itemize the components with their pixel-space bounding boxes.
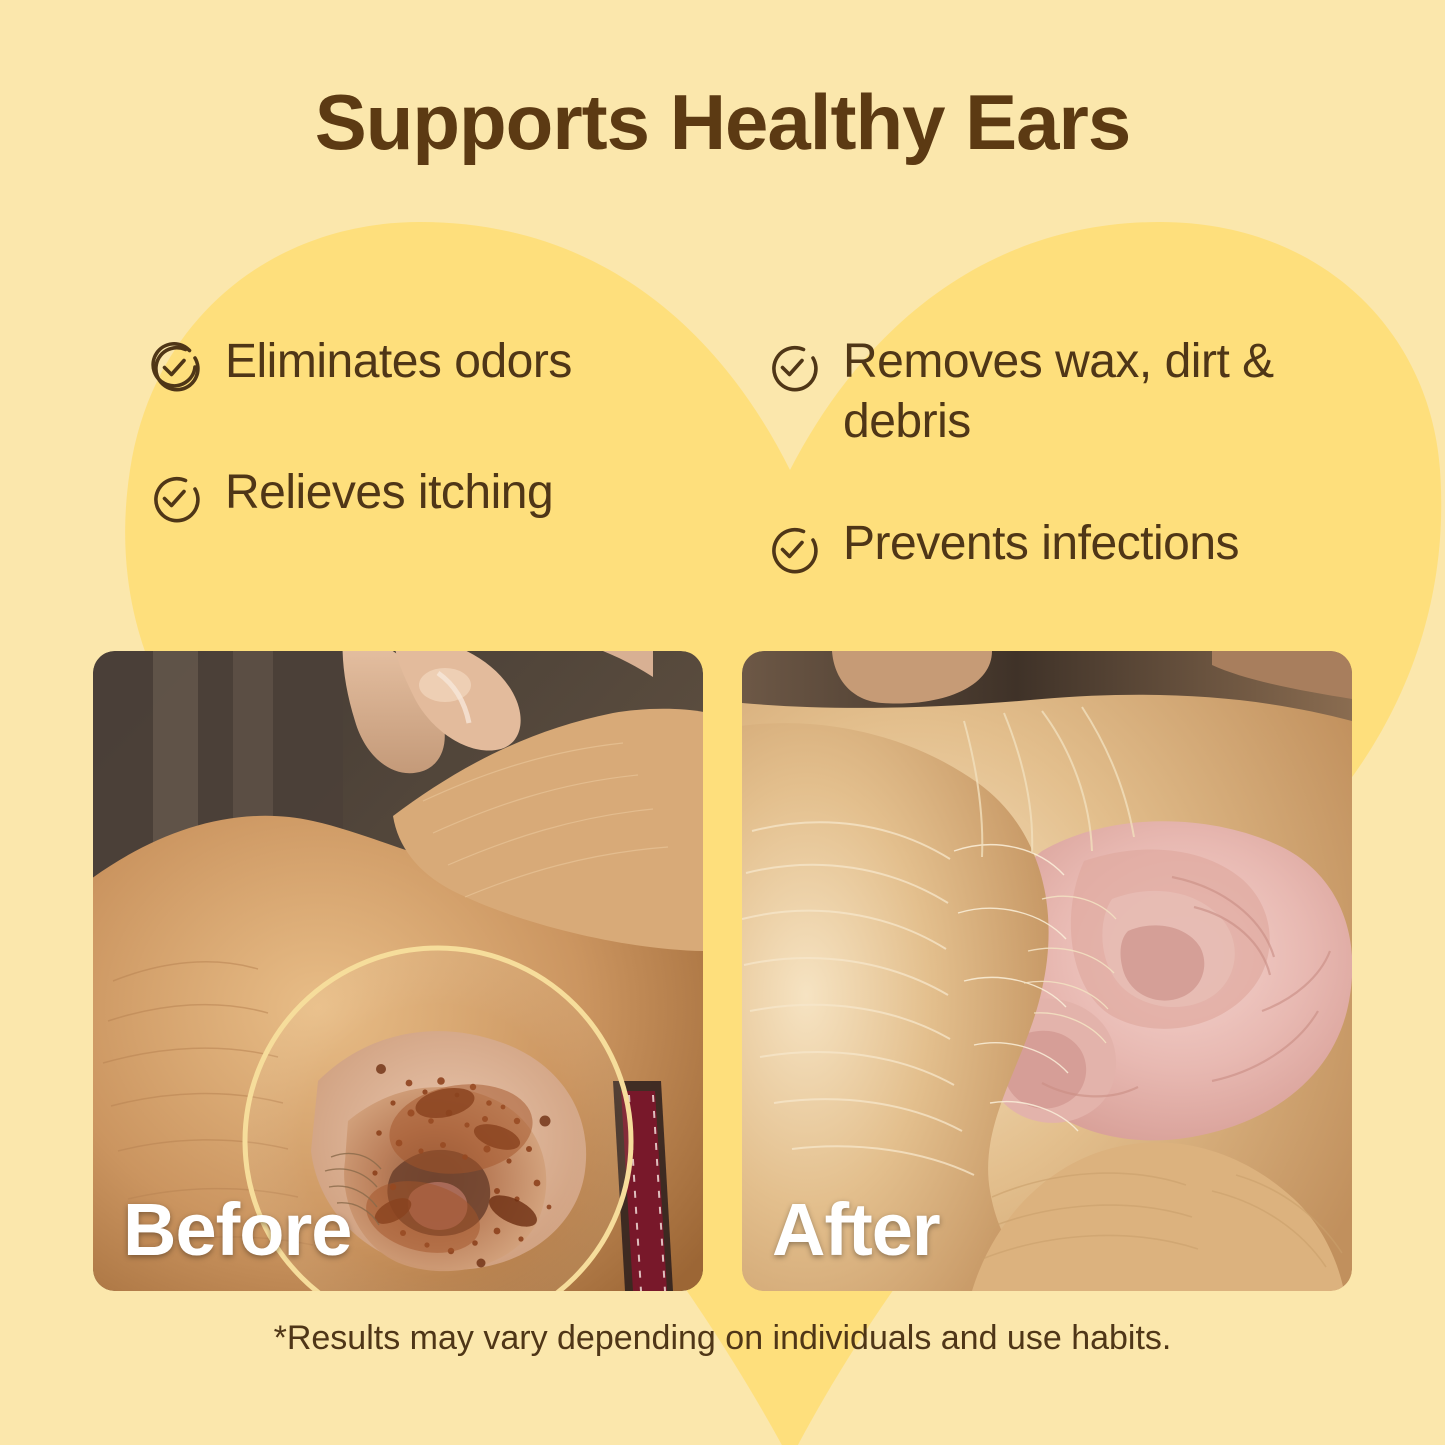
before-after-comparison: Before (93, 651, 1352, 1291)
page-title: Supports Healthy Ears (0, 78, 1445, 166)
benefits-list: Eliminates odors Relieves itching (145, 332, 1325, 645)
check-circle-icon (145, 338, 203, 401)
benefit-item-eliminates-odors: Eliminates odors (145, 332, 735, 401)
check-circle-icon (145, 469, 203, 532)
benefit-item-removes-wax-dirt-debris: Removes wax, dirt & debris (763, 332, 1325, 452)
after-label: After (772, 1191, 940, 1269)
benefits-column-left: Eliminates odors Relieves itching (145, 332, 735, 645)
benefit-label: Eliminates odors (225, 332, 572, 392)
disclaimer-footnote: *Results may vary depending on individua… (0, 1316, 1445, 1360)
benefits-column-right: Removes wax, dirt & debris Prevents infe… (735, 332, 1325, 645)
after-photo-panel: After (742, 651, 1352, 1291)
before-photo-panel: Before (93, 651, 703, 1291)
benefit-item-prevents-infections: Prevents infections (763, 514, 1325, 583)
check-circle-icon (763, 520, 821, 583)
before-label: Before (123, 1191, 351, 1269)
benefit-label: Prevents infections (843, 514, 1239, 574)
benefit-label: Relieves itching (225, 463, 553, 523)
check-circle-icon (763, 338, 821, 401)
benefit-label: Removes wax, dirt & debris (843, 332, 1325, 452)
benefit-item-relieves-itching: Relieves itching (145, 463, 735, 532)
ad-creative-canvas: Supports Healthy Ears Eliminates odors (0, 0, 1445, 1445)
